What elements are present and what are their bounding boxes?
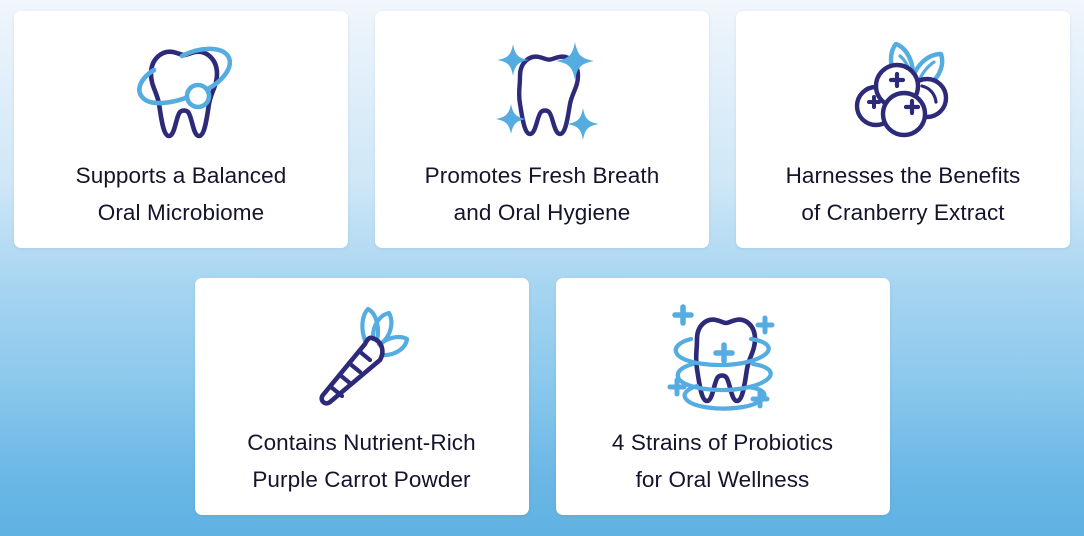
benefit-card-row-2: Contains Nutrient-Rich Purple Carrot Pow… [0, 278, 1084, 515]
tooth-probiotic-rings-icon [661, 300, 785, 418]
benefit-card-purple-carrot[interactable]: Contains Nutrient-Rich Purple Carrot Pow… [195, 278, 529, 515]
benefit-card-title: Harnesses the Benefits of Cranberry Extr… [786, 157, 1021, 231]
product-benefits-section: Supports a Balanced Oral Microbiome Prom… [0, 0, 1084, 536]
benefit-card-title: Contains Nutrient-Rich Purple Carrot Pow… [247, 424, 476, 498]
cranberry-icon [843, 33, 963, 151]
benefit-card-title: Promotes Fresh Breath and Oral Hygiene [425, 157, 660, 231]
benefit-card-cranberry-extract[interactable]: Harnesses the Benefits of Cranberry Extr… [736, 11, 1070, 248]
carrot-icon [302, 300, 422, 418]
benefit-card-title: Supports a Balanced Oral Microbiome [76, 157, 287, 231]
tooth-sparkle-icon [482, 33, 602, 151]
benefit-card-fresh-breath[interactable]: Promotes Fresh Breath and Oral Hygiene [375, 11, 709, 248]
benefit-card-probiotics[interactable]: 4 Strains of Probiotics for Oral Wellnes… [556, 278, 890, 515]
benefit-card-title: 4 Strains of Probiotics for Oral Wellnes… [612, 424, 833, 498]
benefit-card-oral-microbiome[interactable]: Supports a Balanced Oral Microbiome [14, 11, 348, 248]
tooth-orbit-icon [121, 33, 241, 151]
benefit-card-row-1: Supports a Balanced Oral Microbiome Prom… [0, 11, 1084, 248]
